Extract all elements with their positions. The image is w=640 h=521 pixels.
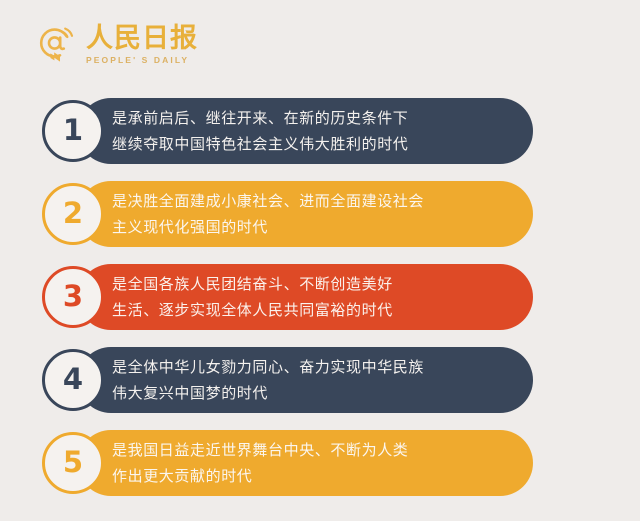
point-pill-1: 是承前启后、继往开来、在新的历史条件下 继续夺取中国特色社会主义伟大胜利的时代 [78,98,533,164]
point-number: 2 [63,199,83,228]
point-number-badge-4: 4 [42,349,104,411]
point-number-badge-3: 3 [42,266,104,328]
at-megaphone-icon [36,22,82,68]
point-text-line: 是全体中华儿女勠力同心、奋力实现中华民族 [112,354,533,380]
point-text-line: 是承前启后、继往开来、在新的历史条件下 [112,105,533,131]
point-number-badge-2: 2 [42,183,104,245]
list-item: 是决胜全面建成小康社会、进而全面建设社会 主义现代化强国的时代 2 [0,175,640,258]
brand-wordmark: 人民日报 PEOPLE' S DAILY [86,25,198,65]
point-number: 1 [63,116,83,145]
list-item: 是我国日益走近世界舞台中央、不断为人类 作出更大贡献的时代 5 [0,424,640,510]
point-number: 5 [63,448,83,477]
point-text-line: 伟大复兴中国梦的时代 [112,380,533,406]
brand-name-cn: 人民日报 [86,25,198,52]
point-number: 3 [63,282,83,311]
point-number-badge-5: 5 [42,432,104,494]
points-list: 是承前启后、继往开来、在新的历史条件下 继续夺取中国特色社会主义伟大胜利的时代 … [0,92,640,510]
brand-header: 人民日报 PEOPLE' S DAILY [36,20,198,70]
point-number-badge-1: 1 [42,100,104,162]
brand-name-en: PEOPLE' S DAILY [86,56,198,65]
point-text-line: 生活、逐步实现全体人民共同富裕的时代 [112,297,533,323]
point-text-line: 是我国日益走近世界舞台中央、不断为人类 [112,437,533,463]
point-text-line: 主义现代化强国的时代 [112,214,533,240]
infographic-page: { "background_color": "#efecea", "logo":… [0,0,640,521]
list-item: 是全国各族人民团结奋斗、不断创造美好 生活、逐步实现全体人民共同富裕的时代 3 [0,258,640,341]
point-pill-3: 是全国各族人民团结奋斗、不断创造美好 生活、逐步实现全体人民共同富裕的时代 [78,264,533,330]
point-text-line: 作出更大贡献的时代 [112,463,533,489]
point-text-line: 是全国各族人民团结奋斗、不断创造美好 [112,271,533,297]
point-pill-2: 是决胜全面建成小康社会、进而全面建设社会 主义现代化强国的时代 [78,181,533,247]
point-text-line: 是决胜全面建成小康社会、进而全面建设社会 [112,188,533,214]
point-pill-4: 是全体中华儿女勠力同心、奋力实现中华民族 伟大复兴中国梦的时代 [78,347,533,413]
point-text-line: 继续夺取中国特色社会主义伟大胜利的时代 [112,131,533,157]
list-item: 是全体中华儿女勠力同心、奋力实现中华民族 伟大复兴中国梦的时代 4 [0,341,640,424]
point-number: 4 [63,365,83,394]
list-item: 是承前启后、继往开来、在新的历史条件下 继续夺取中国特色社会主义伟大胜利的时代 … [0,92,640,175]
point-pill-5: 是我国日益走近世界舞台中央、不断为人类 作出更大贡献的时代 [78,430,533,496]
